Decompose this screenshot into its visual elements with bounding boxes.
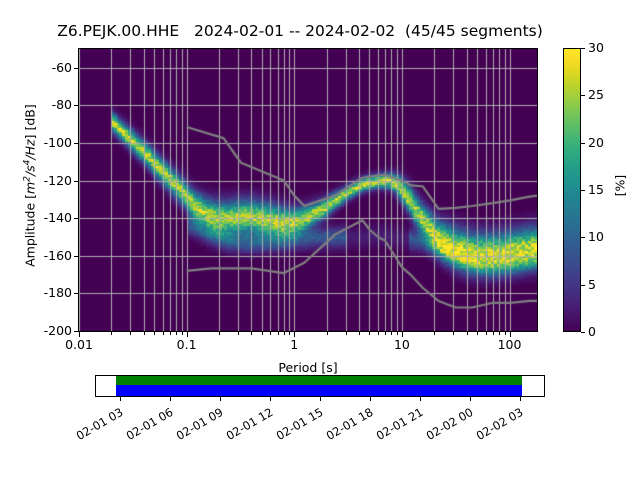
x-tick-minor <box>170 332 171 335</box>
x-tick-minor <box>499 332 500 335</box>
x-tick-label: 10 <box>362 337 442 352</box>
x-tick-minor <box>284 332 285 335</box>
timeline-tick-mark <box>320 397 321 401</box>
x-tick-minor <box>270 332 271 335</box>
colorbar-tick-label: 0 <box>588 324 628 339</box>
colorbar-tick-mark <box>581 143 585 144</box>
timeline-tick-mark <box>270 397 271 401</box>
x-tick-minor <box>397 332 398 335</box>
y-tick-mark <box>74 143 78 144</box>
y-tick-mark <box>74 256 78 257</box>
colorbar-gradient <box>564 49 580 331</box>
x-tick-minor <box>493 332 494 335</box>
colorbar[interactable] <box>563 48 581 332</box>
y-tick-label: -200 <box>12 323 72 338</box>
x-tick-minor <box>346 332 347 335</box>
timeline-psd-segments-bar <box>116 385 522 396</box>
colorbar-tick-mark <box>581 237 585 238</box>
colorbar-tick-label: 10 <box>588 229 628 244</box>
timeline-tick-mark <box>170 397 171 401</box>
timeline-tick-mark <box>370 397 371 401</box>
colorbar-tick-label: 20 <box>588 135 628 150</box>
x-tick-minor <box>385 332 386 335</box>
x-tick-minor <box>262 332 263 335</box>
x-tick-minor <box>219 332 220 335</box>
x-tick-minor <box>176 332 177 335</box>
x-tick-label: 100 <box>470 337 550 352</box>
timeline-strip[interactable] <box>95 375 545 397</box>
colorbar-tick-label: 5 <box>588 277 628 292</box>
x-axis-label: Period [s] <box>78 360 538 375</box>
x-tick-minor <box>251 332 252 335</box>
ppsd-heatmap-canvas[interactable] <box>79 49 537 331</box>
y-tick-label: -120 <box>12 173 72 188</box>
x-tick-minor <box>182 332 183 335</box>
x-tick-minor <box>289 332 290 335</box>
ppsd-figure: Z6.PEJK.00.HHE 2024-02-01 -- 2024-02-02 … <box>0 0 640 480</box>
y-tick-mark <box>74 331 78 332</box>
x-tick-minor <box>130 332 131 335</box>
y-tick-mark <box>74 293 78 294</box>
page-title: Z6.PEJK.00.HHE 2024-02-01 -- 2024-02-02 … <box>0 22 600 40</box>
x-tick-minor <box>359 332 360 335</box>
x-tick-minor <box>154 332 155 335</box>
x-tick-minor <box>505 332 506 335</box>
y-tick-mark <box>74 218 78 219</box>
x-tick-label: 0.01 <box>39 337 119 352</box>
y-tick-mark <box>74 105 78 106</box>
x-tick-minor <box>369 332 370 335</box>
colorbar-tick-label: 30 <box>588 40 628 55</box>
colorbar-tick-mark <box>581 332 585 333</box>
y-tick-label: -100 <box>12 135 72 150</box>
y-tick-mark <box>74 68 78 69</box>
colorbar-tick-mark <box>581 285 585 286</box>
ppsd-axes[interactable] <box>78 48 538 332</box>
timeline-tick-mark <box>220 397 221 401</box>
timeline-tick-mark <box>120 397 121 401</box>
colorbar-tick-mark <box>581 48 585 49</box>
colorbar-tick-label: 15 <box>588 182 628 197</box>
y-tick-mark <box>74 181 78 182</box>
colorbar-tick-label: 25 <box>588 87 628 102</box>
x-tick-minor <box>278 332 279 335</box>
x-tick-minor <box>144 332 145 335</box>
colorbar-tick-mark <box>581 95 585 96</box>
x-tick-label: 1 <box>254 337 334 352</box>
timeline-tick-label: 02-01 03 <box>39 405 126 463</box>
x-tick-minor <box>453 332 454 335</box>
timeline-tick-mark <box>520 397 521 401</box>
x-tick-minor <box>327 332 328 335</box>
timeline-tick-mark <box>420 397 421 401</box>
timeline-data-coverage-bar <box>116 376 522 385</box>
x-tick-minor <box>111 332 112 335</box>
y-tick-label: -180 <box>12 285 72 300</box>
x-tick-minor <box>467 332 468 335</box>
colorbar-tick-mark <box>581 190 585 191</box>
x-tick-minor <box>434 332 435 335</box>
x-tick-minor <box>477 332 478 335</box>
y-tick-label: -60 <box>12 60 72 75</box>
y-tick-label: -140 <box>12 210 72 225</box>
x-tick-minor <box>391 332 392 335</box>
y-tick-label: -80 <box>12 97 72 112</box>
x-tick-minor <box>163 332 164 335</box>
x-tick-minor <box>486 332 487 335</box>
x-tick-minor <box>238 332 239 335</box>
timeline-tick-mark <box>470 397 471 401</box>
x-tick-minor <box>378 332 379 335</box>
x-tick-label: 0.1 <box>147 337 227 352</box>
y-tick-label: -160 <box>12 248 72 263</box>
